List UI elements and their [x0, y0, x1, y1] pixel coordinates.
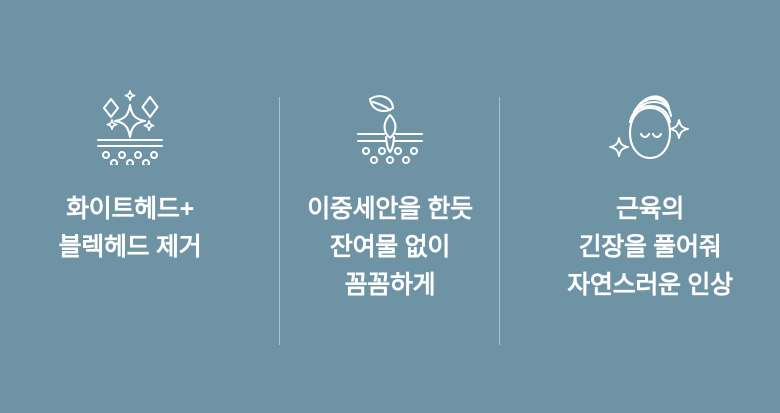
caption-line: 근육의: [567, 190, 733, 228]
caption-line: 블렉헤드 제거: [59, 228, 202, 266]
caption-line: 자연스러운 인상: [567, 266, 733, 304]
caption-line: 긴장을 풀어줘: [567, 228, 733, 266]
caption-line: 화이트헤드+: [59, 190, 202, 228]
caption-line: 꼼꼼하게: [307, 266, 473, 304]
benefit-caption-2: 이중세안을 한듯 잔여물 없이 꼼꼼하게: [307, 190, 473, 304]
column-divider-1: [279, 97, 280, 345]
benefit-caption-3: 근육의 긴장을 풀어줘 자연스러운 인상: [567, 190, 733, 304]
benefit-caption-1: 화이트헤드+ 블렉헤드 제거: [59, 190, 202, 266]
benefit-column-1: 화이트헤드+ 블렉헤드 제거: [0, 0, 260, 413]
benefit-column-3: 근육의 긴장을 풀어줘 자연스러운 인상: [520, 0, 780, 413]
caption-line: 이중세안을 한듯: [307, 190, 473, 228]
benefit-columns: 화이트헤드+ 블렉헤드 제거: [0, 0, 780, 413]
face-towel-relax-icon: [606, 88, 694, 166]
leaf-seed-deep-cleanse-icon: [346, 88, 434, 166]
caption-line: 잔여물 없이: [307, 228, 473, 266]
benefits-banner: 화이트헤드+ 블렉헤드 제거: [0, 0, 780, 413]
column-divider-2: [499, 97, 500, 345]
benefit-column-2: 이중세안을 한듯 잔여물 없이 꼼꼼하게: [260, 0, 520, 413]
sparkles-pore-cleansing-icon: [86, 88, 174, 166]
